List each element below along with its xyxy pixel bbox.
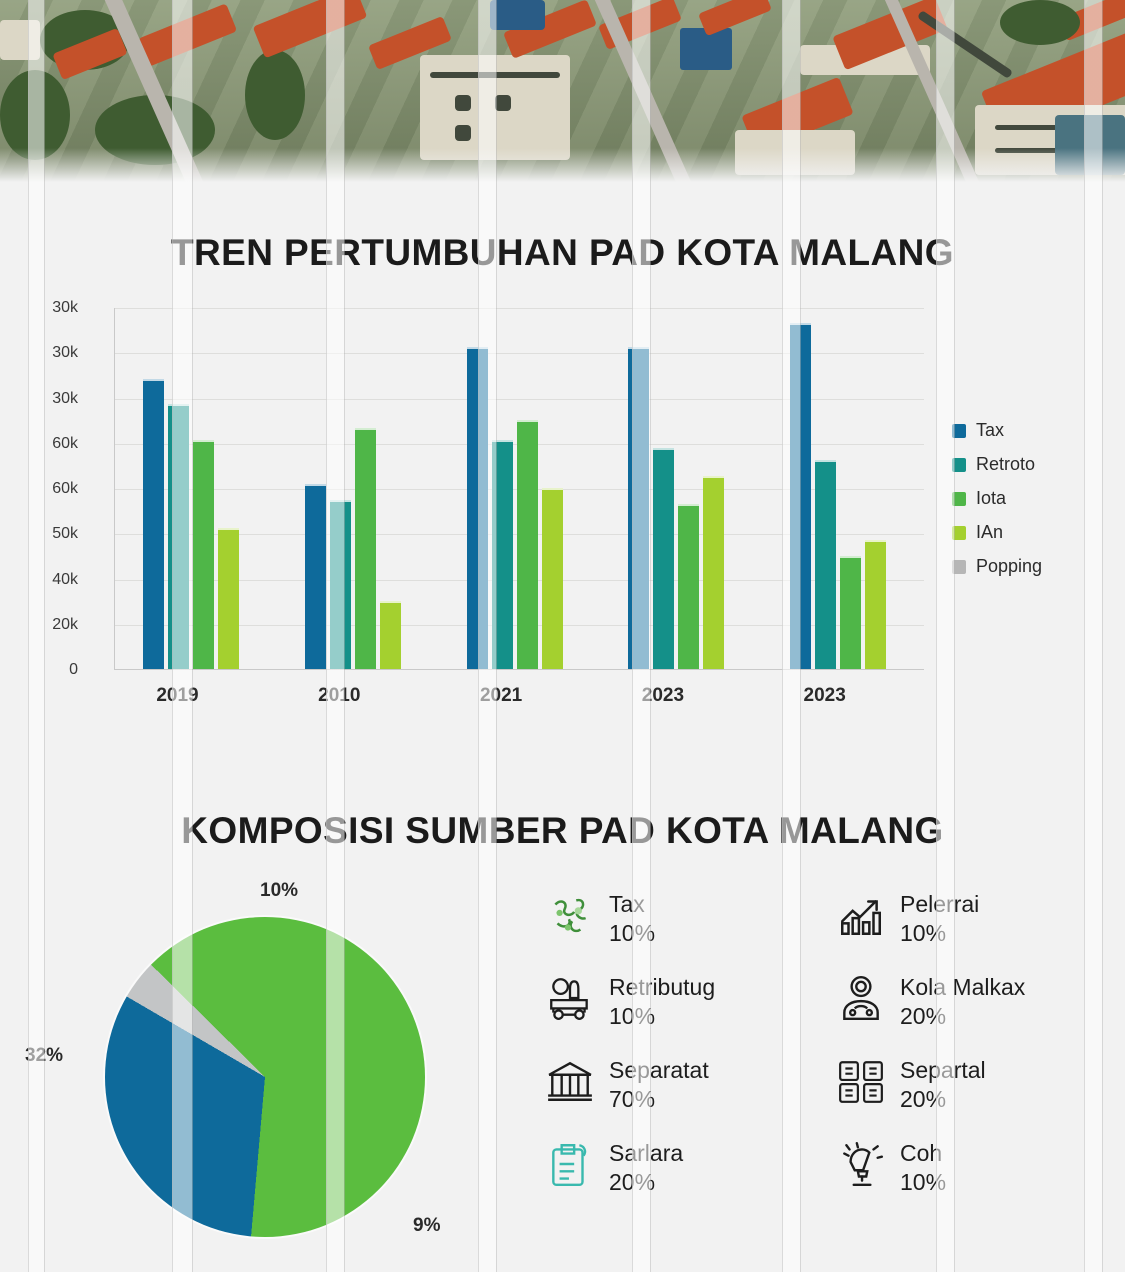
bar-group: 2023 (762, 308, 924, 669)
bar-chart-title: TREN PERTUMBUHAN PAD KOTA MALANG (0, 232, 1125, 274)
bar (815, 460, 836, 669)
x-axis-label: 2010 (277, 685, 402, 707)
legend-item-label: Retroto (976, 454, 1035, 475)
bar-group: 2019 (115, 308, 277, 669)
pie-label-top: 10% (260, 880, 298, 902)
x-axis-label: 2019 (115, 685, 240, 707)
bar-group: 2021 (439, 308, 601, 669)
bar-groups: 20192010202120232023 (115, 308, 924, 669)
pie-legend-item[interactable]: Retributug10% (545, 973, 814, 1030)
legend-item-label: Tax (976, 420, 1004, 441)
pie-legend-item[interactable]: Sarlara20% (545, 1139, 814, 1196)
pie-legend-item-name: Pelerrai (900, 890, 979, 919)
y-tick-label: 30k (8, 390, 78, 408)
bar (330, 500, 351, 669)
legend-item[interactable]: Iota (952, 488, 1125, 509)
bar (703, 476, 724, 669)
stripe-edge (44, 0, 45, 1272)
banner-fade (0, 148, 1125, 182)
pie-chart-legend-grid: Tax10%Pelerrai10%Retributug10%Kola Malka… (545, 890, 1105, 1196)
pie-chart-circle (105, 917, 425, 1237)
legend-item-label: IAn (976, 522, 1003, 543)
pie-legend-item-name: Tax (609, 890, 655, 919)
pie-legend-item-name: Kola Malkax (900, 973, 1025, 1002)
person-icon (836, 973, 886, 1025)
bar (790, 323, 811, 669)
pie-legend-item[interactable]: Separatat70% (545, 1056, 814, 1113)
bar (193, 440, 214, 669)
pie-label-right: 9% (413, 1215, 440, 1237)
x-axis-label: 2021 (439, 685, 564, 707)
bar (168, 404, 189, 669)
pie-legend-item-name: Sarlara (609, 1139, 683, 1168)
x-axis-label: 2023 (600, 685, 725, 707)
bar (653, 448, 674, 669)
legend-swatch-icon (952, 424, 966, 438)
legend-item-label: Popping (976, 556, 1042, 577)
bank-icon (545, 1056, 595, 1108)
pie-legend-item[interactable]: Kola Malkax20% (836, 973, 1105, 1030)
pie-legend-item-percent: 10% (900, 1168, 946, 1197)
pie-legend-item-name: Retributug (609, 973, 715, 1002)
pie-chart: 10% 32% 9% (95, 905, 440, 1250)
y-tick-label: 60k (8, 435, 78, 453)
bar (678, 504, 699, 669)
legend-item[interactable]: Popping (952, 556, 1125, 577)
y-tick-label: 30k (8, 344, 78, 362)
pie-legend-item-percent: 10% (900, 919, 979, 948)
legend-swatch-icon (952, 458, 966, 472)
legend-item[interactable]: Tax (952, 420, 1125, 441)
legend-swatch-icon (952, 560, 966, 574)
y-tick-label: 0 (8, 661, 78, 679)
clipboard-icon (545, 1139, 595, 1191)
pie-legend-item-percent: 10% (609, 1002, 715, 1031)
header-photo-banner (0, 0, 1125, 182)
bar (865, 540, 886, 669)
pie-legend-item-name: Coh (900, 1139, 946, 1168)
pie-legend-item[interactable]: Tax10% (545, 890, 814, 947)
pie-chart-title: KOMPOSISI SUMBER PAD KOTA MALANG (0, 810, 1125, 852)
bar (143, 379, 164, 669)
pie-legend-item-percent: 70% (609, 1085, 709, 1114)
pie-legend-item[interactable]: Pelerrai10% (836, 890, 1105, 947)
bar (355, 428, 376, 669)
bar-chart-plot-area: 20192010202120232023 (114, 308, 924, 670)
x-axis-label: 2023 (762, 685, 887, 707)
legend-item[interactable]: IAn (952, 522, 1125, 543)
bar (542, 488, 563, 669)
bar (305, 484, 326, 669)
y-tick-label: 60k (8, 480, 78, 498)
legend-item-label: Iota (976, 488, 1006, 509)
street-vendor-icon (545, 973, 595, 1025)
pie-legend-item-percent: 20% (900, 1002, 1025, 1031)
pie-legend-item-name: Separatat (609, 1056, 709, 1085)
bar (467, 347, 488, 669)
pie-legend-item-percent: 20% (609, 1168, 683, 1197)
bar (840, 556, 861, 669)
bar-group: 2010 (277, 308, 439, 669)
growth-chart-icon (836, 890, 886, 942)
building-grid-icon (836, 1056, 886, 1108)
stripe-edge (28, 0, 29, 1272)
bar (380, 601, 401, 669)
bar-group: 2023 (600, 308, 762, 669)
pie-legend-item-percent: 10% (609, 919, 655, 948)
bar (628, 347, 649, 669)
bar-chart: 30k30k30k60k60k50k40k20k0 20192010202120… (62, 300, 942, 710)
lamp-icon (836, 1139, 886, 1191)
legend-item[interactable]: Retroto (952, 454, 1125, 475)
pie-legend-item[interactable]: Separtal20% (836, 1056, 1105, 1113)
legend-swatch-icon (952, 526, 966, 540)
bar (218, 528, 239, 669)
pie-label-left: 32% (25, 1045, 63, 1067)
y-tick-label: 20k (8, 616, 78, 634)
bar (517, 420, 538, 669)
legend-swatch-icon (952, 492, 966, 506)
pie-legend-item-percent: 20% (900, 1085, 986, 1114)
abstract-green-icon (545, 890, 595, 942)
y-tick-label: 40k (8, 571, 78, 589)
y-tick-label: 50k (8, 525, 78, 543)
bar-chart-legend: TaxRetrotoIotaIAnPopping (952, 420, 1125, 577)
pie-legend-item-name: Separtal (900, 1056, 986, 1085)
pie-legend-item[interactable]: Coh10% (836, 1139, 1105, 1196)
y-tick-label: 30k (8, 299, 78, 317)
bar (492, 440, 513, 669)
